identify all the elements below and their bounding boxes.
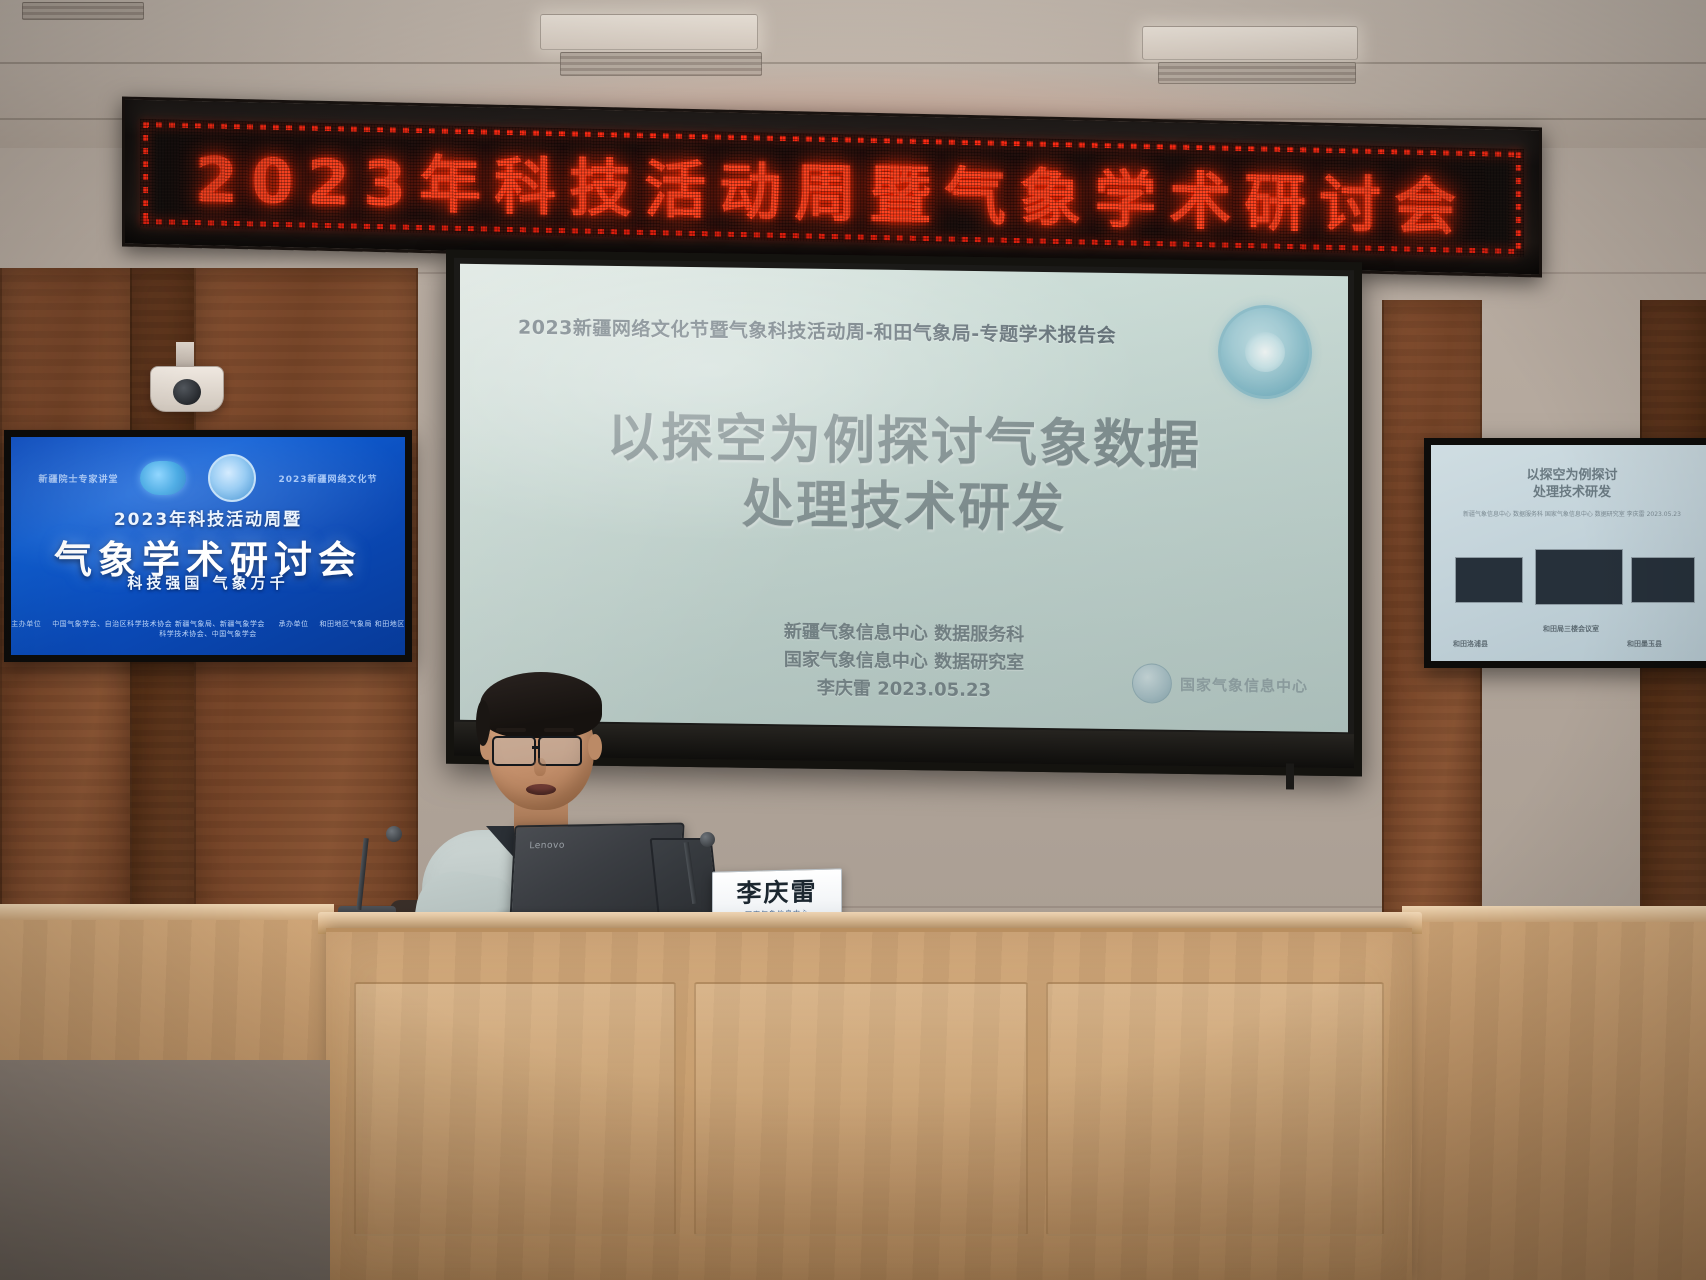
left-tv-badge-right: 2023新疆网络文化节 [278, 472, 377, 485]
left-tv-main-title: 气象学术研讨会 [11, 529, 405, 584]
nmic-logo: 国家气象信息中心 [1132, 663, 1308, 705]
right-tv-title-line2: 处理技术研发 [1431, 484, 1706, 502]
xinjiang-meteorology-logo-icon [1218, 304, 1312, 399]
globe-icon [1132, 663, 1172, 704]
microphone-head-icon [386, 826, 402, 842]
right-tv-thumbnail [1455, 557, 1523, 603]
desk-edge-right [1402, 906, 1706, 922]
slide-header-text: 2023新疆网络文化节暨气象科技活动周-和田气象局-专题学术报告会 [518, 313, 1228, 350]
ceiling-vent [560, 52, 762, 76]
cloud-emblem-icon [140, 461, 186, 495]
left-tv-slogan: 科技强国 气象万千 [11, 572, 405, 593]
nameplate-name: 李庆雷 [736, 878, 817, 905]
left-tv-badge-left: 新疆院士专家讲堂 [38, 472, 118, 485]
slide-title-line2: 处理技术研发 [460, 469, 1348, 546]
right-tv-caption-left: 和田洛浦县 [1453, 639, 1488, 649]
glasses-bridge [532, 746, 540, 749]
organizer-left-text: 中国气象学会、自治区科学技术协会 新疆气象局、新疆气象学会 [52, 620, 265, 628]
podium-panel-section [354, 982, 676, 1236]
podium-panel-section [694, 982, 1028, 1236]
left-tv-subtitle: 2023年科技活动周暨 [11, 505, 405, 530]
speaker-eyebrow-left [496, 728, 526, 732]
desk-edge-left [0, 904, 334, 920]
ptz-camera [150, 366, 224, 412]
right-tv-thumbnail [1535, 549, 1623, 605]
left-tv-screen: 新疆院士专家讲堂 2023新疆网络文化节 2023年科技活动周暨 气象学术研讨会… [11, 437, 405, 655]
speaker-mouth [526, 784, 556, 795]
ceiling-vent [22, 2, 144, 20]
floor [0, 1060, 330, 1280]
nmic-logo-text: 国家气象信息中心 [1180, 673, 1308, 696]
led-banner: 2023年科技活动周暨气象学术研讨会 [122, 97, 1542, 278]
screen-roller-right [1286, 763, 1294, 789]
right-tv-screen: 以探空为例探讨 处理技术研发 新疆气象信息中心 数据服务科 国家气象信息中心 数… [1431, 445, 1706, 661]
desk-wing-right [1406, 908, 1706, 1280]
podium-panel-section [1046, 982, 1384, 1236]
speaker-ear-right [588, 734, 602, 760]
conference-room-photo: 2023年科技活动周暨气象学术研讨会 2023新疆网络文化节暨气象科技活动周-和… [0, 0, 1706, 1280]
glasses-lens-left [492, 736, 536, 766]
right-tv-title-line1: 以探空为例探讨 [1431, 467, 1706, 485]
left-tv-logo-row: 新疆院士专家讲堂 2023新疆网络文化节 [11, 454, 405, 502]
laptop-brand-label: Lenovo [529, 841, 565, 852]
ceiling-seam [0, 62, 1706, 64]
meteorology-seal-icon [208, 454, 256, 502]
microphone-head-icon-2 [700, 832, 715, 847]
right-tv-caption-right: 和田墨玉县 [1627, 639, 1662, 649]
right-tv-display: 以探空为例探讨 处理技术研发 新疆气象信息中心 数据服务科 国家气象信息中心 数… [1424, 438, 1706, 668]
ceiling-vent [1158, 62, 1356, 84]
ceiling-light [1142, 26, 1358, 60]
podium-front-panel [326, 928, 1412, 1280]
camera-mount [176, 342, 194, 368]
ceiling-light [540, 14, 758, 50]
left-tv-display: 新疆院士专家讲堂 2023新疆网络文化节 2023年科技活动周暨 气象学术研讨会… [4, 430, 412, 662]
organizer-left-label: 主办单位 [11, 620, 41, 628]
right-tv-caption-center: 和田局三楼会议室 [1543, 624, 1599, 634]
organizer-right-label: 承办单位 [279, 620, 309, 628]
speaker-eyebrow-right [544, 728, 574, 732]
slide-title-line1: 以探空为例探讨气象数据 [460, 404, 1348, 481]
slide-title: 以探空为例探讨气象数据 处理技术研发 [460, 404, 1348, 546]
organizer-right-text: 和田地区气象局 和田地区科学技术协会、中国气象学会 [159, 620, 404, 639]
left-tv-organizers: 主办单位 中国气象学会、自治区科学技术协会 新疆气象局、新疆气象学会 承办单位 … [11, 619, 405, 640]
speaker-nose [534, 758, 546, 776]
right-tv-thumbnail [1631, 557, 1695, 603]
right-tv-title: 以探空为例探讨 处理技术研发 [1431, 467, 1706, 502]
right-tv-subtext: 新疆气象信息中心 数据服务科 国家气象信息中心 数据研究室 李庆雷 2023.0… [1431, 510, 1706, 519]
